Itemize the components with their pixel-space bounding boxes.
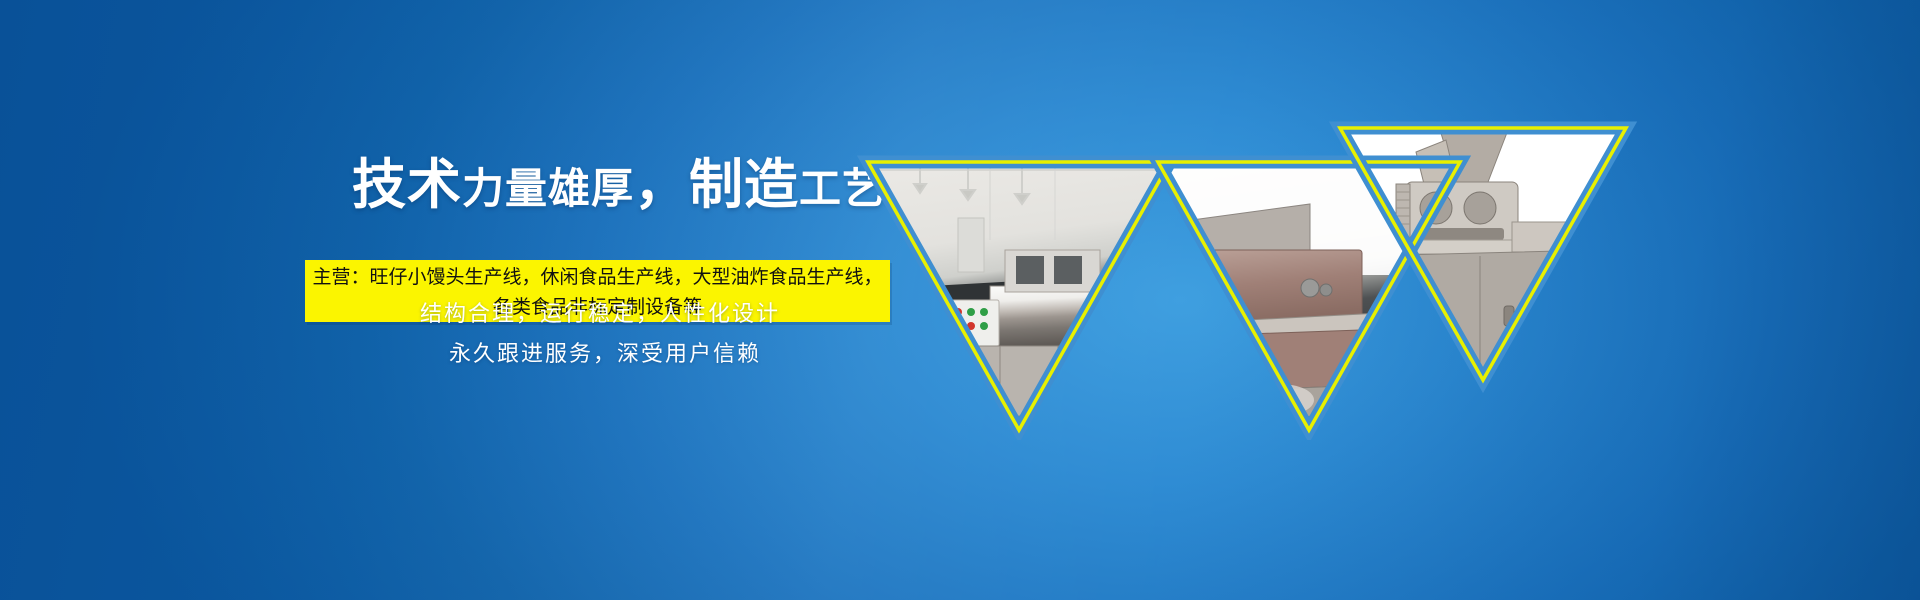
subline-1: 结构合理，运行稳定，人性化设计 [420, 296, 780, 328]
headline-part-1: 技术 [352, 153, 462, 216]
highlight-line-1: 主营：旺仔小馒头生产线，休闲食品生产线，大型油炸食品生产线， [305, 260, 890, 292]
subline-2: 永久跟进服务，深受用户信赖 [449, 336, 761, 368]
banner-text-block: 技术力量雄厚，制造工艺精良 主营：旺仔小馒头生产线，休闲食品生产线，大型油炸食品… [0, 0, 900, 600]
headline-comma: ， [634, 153, 689, 216]
triangle-photo-production-room [860, 155, 1180, 440]
headline-part-2: 力量雄厚 [462, 164, 634, 213]
photo-collage [840, 100, 1920, 440]
promo-banner: 技术力量雄厚，制造工艺精良 主营：旺仔小馒头生产线，休闲食品生产线，大型油炸食品… [0, 0, 1920, 600]
headline-part-4: 制造 [689, 153, 799, 216]
